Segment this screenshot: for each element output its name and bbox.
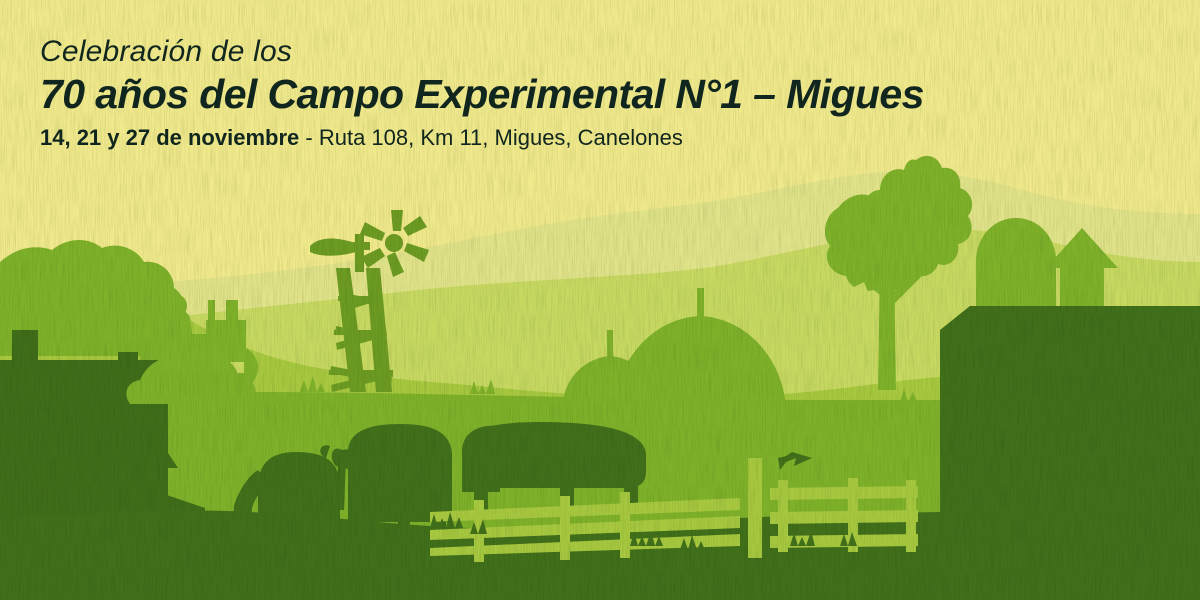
banner-details: 14, 21 y 27 de noviembre - Ruta 108, Km …: [40, 125, 924, 151]
details-separator: -: [299, 125, 319, 150]
event-dates: 14, 21 y 27 de noviembre: [40, 125, 299, 150]
banner-kicker: Celebración de los: [40, 36, 924, 68]
event-banner: Celebración de los 70 años del Campo Exp…: [0, 0, 1200, 600]
event-location: Ruta 108, Km 11, Migues, Canelones: [319, 125, 683, 150]
banner-text-block: Celebración de los 70 años del Campo Exp…: [40, 36, 924, 152]
silo: [976, 218, 1056, 306]
banner-headline: 70 años del Campo Experimental N°1 – Mig…: [40, 72, 924, 118]
